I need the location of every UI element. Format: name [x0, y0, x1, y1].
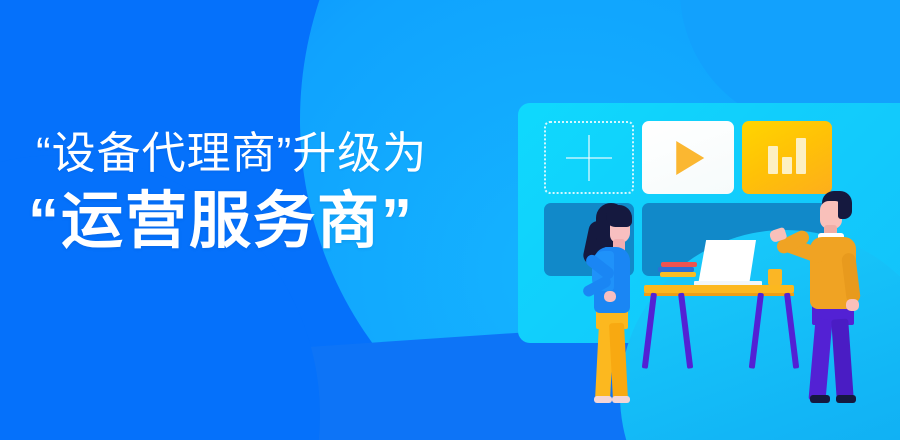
- headline-block: “设备代理商”升级为 “运营服务商”: [36, 126, 506, 260]
- desk-leg: [678, 293, 693, 369]
- desk-top-shadow: [644, 293, 794, 296]
- illustration-people-group: [518, 103, 900, 403]
- man-leg-left: [808, 318, 832, 401]
- woman-shoe-right: [612, 396, 630, 403]
- woman-hair-front: [606, 205, 632, 227]
- man-leg-right: [831, 319, 854, 402]
- man-shoe-right: [836, 395, 856, 403]
- headline-line-2: “运营服务商”: [28, 184, 506, 260]
- woman-shoe-left: [594, 396, 612, 403]
- woman-leg-right: [609, 323, 628, 402]
- book-yellow: [660, 272, 696, 277]
- desk-leg: [642, 293, 657, 369]
- promo-banner: “设备代理商”升级为 “运营服务商”: [0, 0, 900, 440]
- desk-top: [644, 285, 794, 293]
- man-hair-side: [838, 197, 852, 219]
- headline-line-1: “设备代理商”升级为: [36, 126, 506, 182]
- desk-leg: [749, 293, 764, 369]
- man-shoe-left: [810, 395, 830, 403]
- woman-hand: [604, 291, 616, 302]
- laptop-screen: [698, 240, 756, 285]
- man-hand-down: [846, 299, 859, 311]
- man-figure: [794, 191, 880, 403]
- cup: [768, 269, 782, 286]
- woman-figure: [580, 203, 644, 403]
